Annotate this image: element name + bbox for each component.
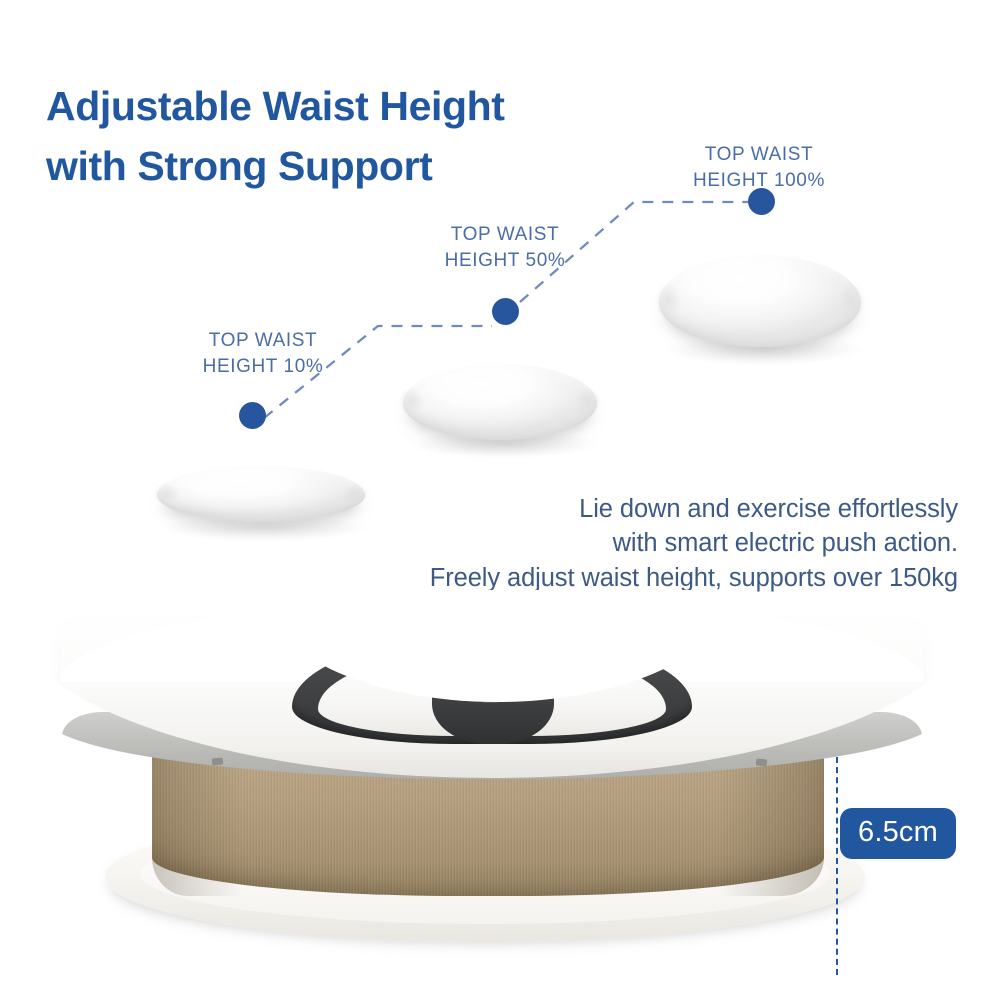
step-dot-100 bbox=[748, 188, 775, 215]
measurement-badge: 6.5cm bbox=[840, 808, 956, 859]
step-label-50-line-1: TOP WAIST bbox=[419, 222, 591, 248]
step-label-100: TOP WAIST HEIGHT 100% bbox=[673, 142, 845, 194]
product-image: 6.5cm bbox=[0, 580, 1000, 980]
product-infographic: { "heading": { "line1": "Adjustable Wais… bbox=[0, 0, 1000, 1000]
description-line-2: with smart electric push action. bbox=[338, 526, 958, 561]
step-label-10-line-2: HEIGHT 10% bbox=[177, 354, 349, 380]
description-line-1: Lie down and exercise effortlessly bbox=[338, 492, 958, 527]
page-title-line-1: Adjustable Waist Height bbox=[46, 77, 666, 136]
measurement-dashed-line bbox=[836, 757, 838, 975]
step-label-100-line-1: TOP WAIST bbox=[673, 142, 845, 168]
pillow-height-50 bbox=[403, 364, 597, 440]
product-cushion-left-shading bbox=[152, 748, 242, 896]
step-label-10-line-1: TOP WAIST bbox=[177, 328, 349, 354]
pillow-height-10 bbox=[157, 466, 365, 522]
step-dot-50 bbox=[492, 298, 519, 325]
product-cushion-right-shading bbox=[718, 748, 824, 896]
product-panel-seam-left bbox=[212, 757, 224, 765]
product-panel-seam-right bbox=[756, 759, 768, 767]
step-label-50: TOP WAIST HEIGHT 50% bbox=[419, 222, 591, 274]
pillow-height-100 bbox=[659, 255, 861, 347]
step-dot-10 bbox=[239, 402, 266, 429]
step-label-10: TOP WAIST HEIGHT 10% bbox=[177, 328, 349, 380]
step-label-50-line-2: HEIGHT 50% bbox=[419, 248, 591, 274]
